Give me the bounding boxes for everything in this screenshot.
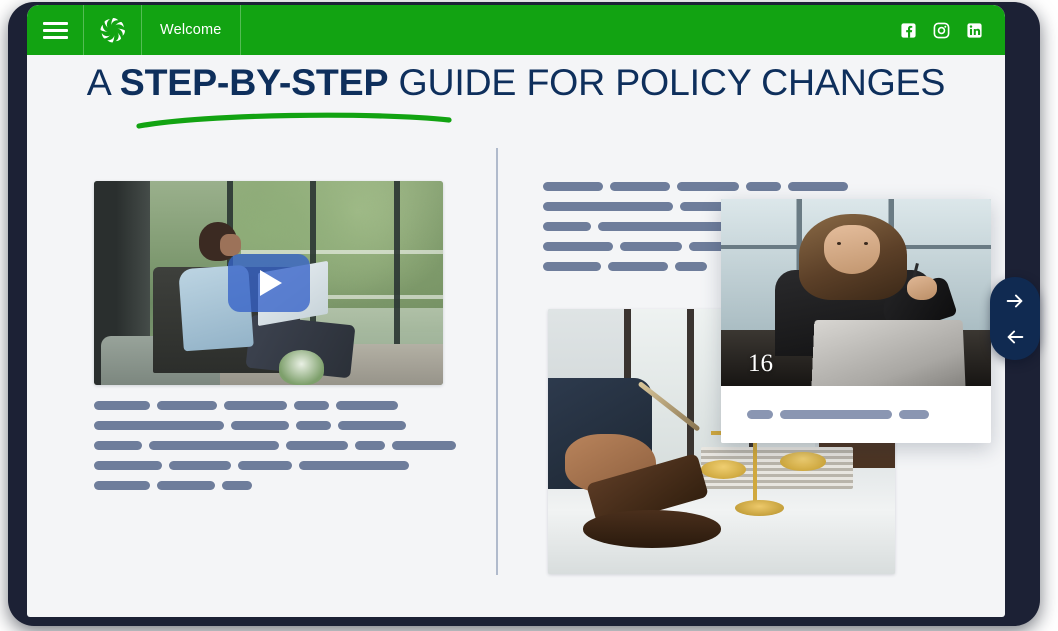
headline-block: A STEP-BY-STEP GUIDE FOR POLICY CHANGES: [27, 63, 1005, 102]
video-thumbnail[interactable]: [94, 181, 443, 385]
title-suffix: GUIDE FOR POLICY CHANGES: [388, 61, 945, 103]
instagram-icon[interactable]: [933, 22, 950, 39]
feature-card-number: 16: [748, 351, 773, 376]
card-text-placeholder: [747, 410, 929, 430]
skeleton-row: [94, 461, 456, 470]
feature-card[interactable]: 16: [721, 199, 991, 443]
skeleton-row: [747, 410, 929, 419]
swirl-aperture-logo: [98, 15, 128, 45]
app-logo[interactable]: [84, 5, 142, 55]
carousel-navigation: [990, 277, 1040, 360]
top-bar-spacer: [241, 5, 900, 55]
top-bar: Welcome: [27, 5, 1005, 55]
skeleton-row: [543, 182, 905, 191]
feature-card-body: [721, 386, 991, 443]
green-underline-accent: [135, 109, 455, 131]
skeleton-row: [94, 401, 456, 410]
facebook-icon[interactable]: [900, 22, 917, 39]
column-divider: [496, 148, 498, 575]
feature-card-photo: 16: [721, 199, 991, 386]
skeleton-row: [94, 441, 456, 450]
hamburger-menu-button[interactable]: [27, 5, 84, 55]
left-text-placeholder: [94, 401, 456, 501]
screen: Welcome: [27, 5, 1005, 617]
arrow-left-icon[interactable]: [1004, 326, 1026, 348]
hamburger-menu-icon: [43, 18, 68, 43]
skeleton-row: [94, 421, 456, 430]
play-button-icon[interactable]: [228, 254, 310, 312]
title-emphasis: STEP-BY-STEP: [120, 61, 389, 103]
welcome-label[interactable]: Welcome: [142, 5, 241, 55]
social-links: [900, 5, 1005, 55]
page-title: A STEP-BY-STEP GUIDE FOR POLICY CHANGES: [27, 63, 1005, 102]
arrow-right-icon[interactable]: [1004, 290, 1026, 312]
skeleton-row: [94, 481, 456, 490]
title-prefix: A: [87, 61, 120, 103]
device-frame: Welcome: [8, 2, 1040, 626]
linkedin-icon[interactable]: [966, 22, 983, 39]
